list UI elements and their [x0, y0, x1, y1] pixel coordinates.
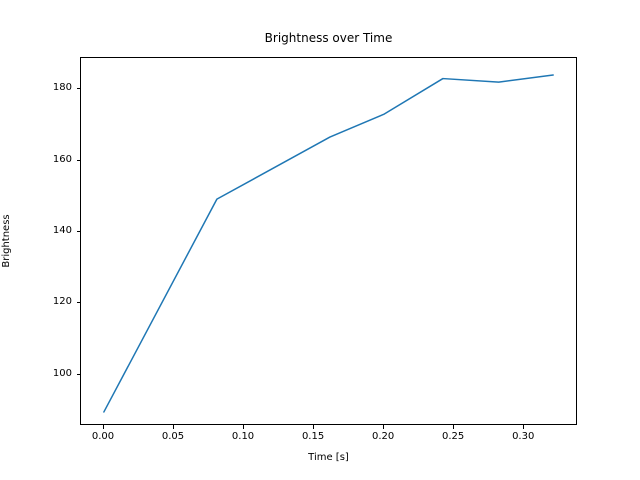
x-tick-label: 0.10 — [213, 431, 273, 443]
y-tick-label: 160 — [12, 154, 72, 166]
y-tick-label: 120 — [12, 296, 72, 308]
x-tick-label: 0.15 — [283, 431, 343, 443]
plot-area — [80, 57, 577, 425]
chart-title: Brightness over Time — [80, 31, 577, 45]
y-tick-label: 100 — [12, 368, 72, 380]
x-axis-label: Time [s] — [80, 452, 577, 464]
figure-canvas: Brightness over Time Brightness Time [s]… — [0, 0, 640, 480]
x-tick-label: 0.30 — [493, 431, 553, 443]
x-tick-mark — [243, 425, 244, 429]
data-polyline — [104, 75, 553, 412]
x-tick-mark — [313, 425, 314, 429]
line-series-brightness — [81, 58, 576, 424]
y-tick-mark — [77, 302, 81, 303]
x-tick-mark — [173, 425, 174, 429]
x-tick-mark — [523, 425, 524, 429]
x-tick-mark — [453, 425, 454, 429]
y-axis-label: Brightness — [1, 214, 13, 267]
y-tick-label: 180 — [12, 82, 72, 94]
y-tick-mark — [77, 231, 81, 232]
x-tick-label: 0.20 — [353, 431, 413, 443]
x-tick-mark — [383, 425, 384, 429]
x-tick-mark — [103, 425, 104, 429]
y-tick-mark — [77, 160, 81, 161]
y-tick-mark — [77, 88, 81, 89]
x-tick-label: 0.00 — [73, 431, 133, 443]
x-tick-label: 0.25 — [423, 431, 483, 443]
y-tick-mark — [77, 374, 81, 375]
y-tick-label: 140 — [12, 225, 72, 237]
x-tick-label: 0.05 — [143, 431, 203, 443]
